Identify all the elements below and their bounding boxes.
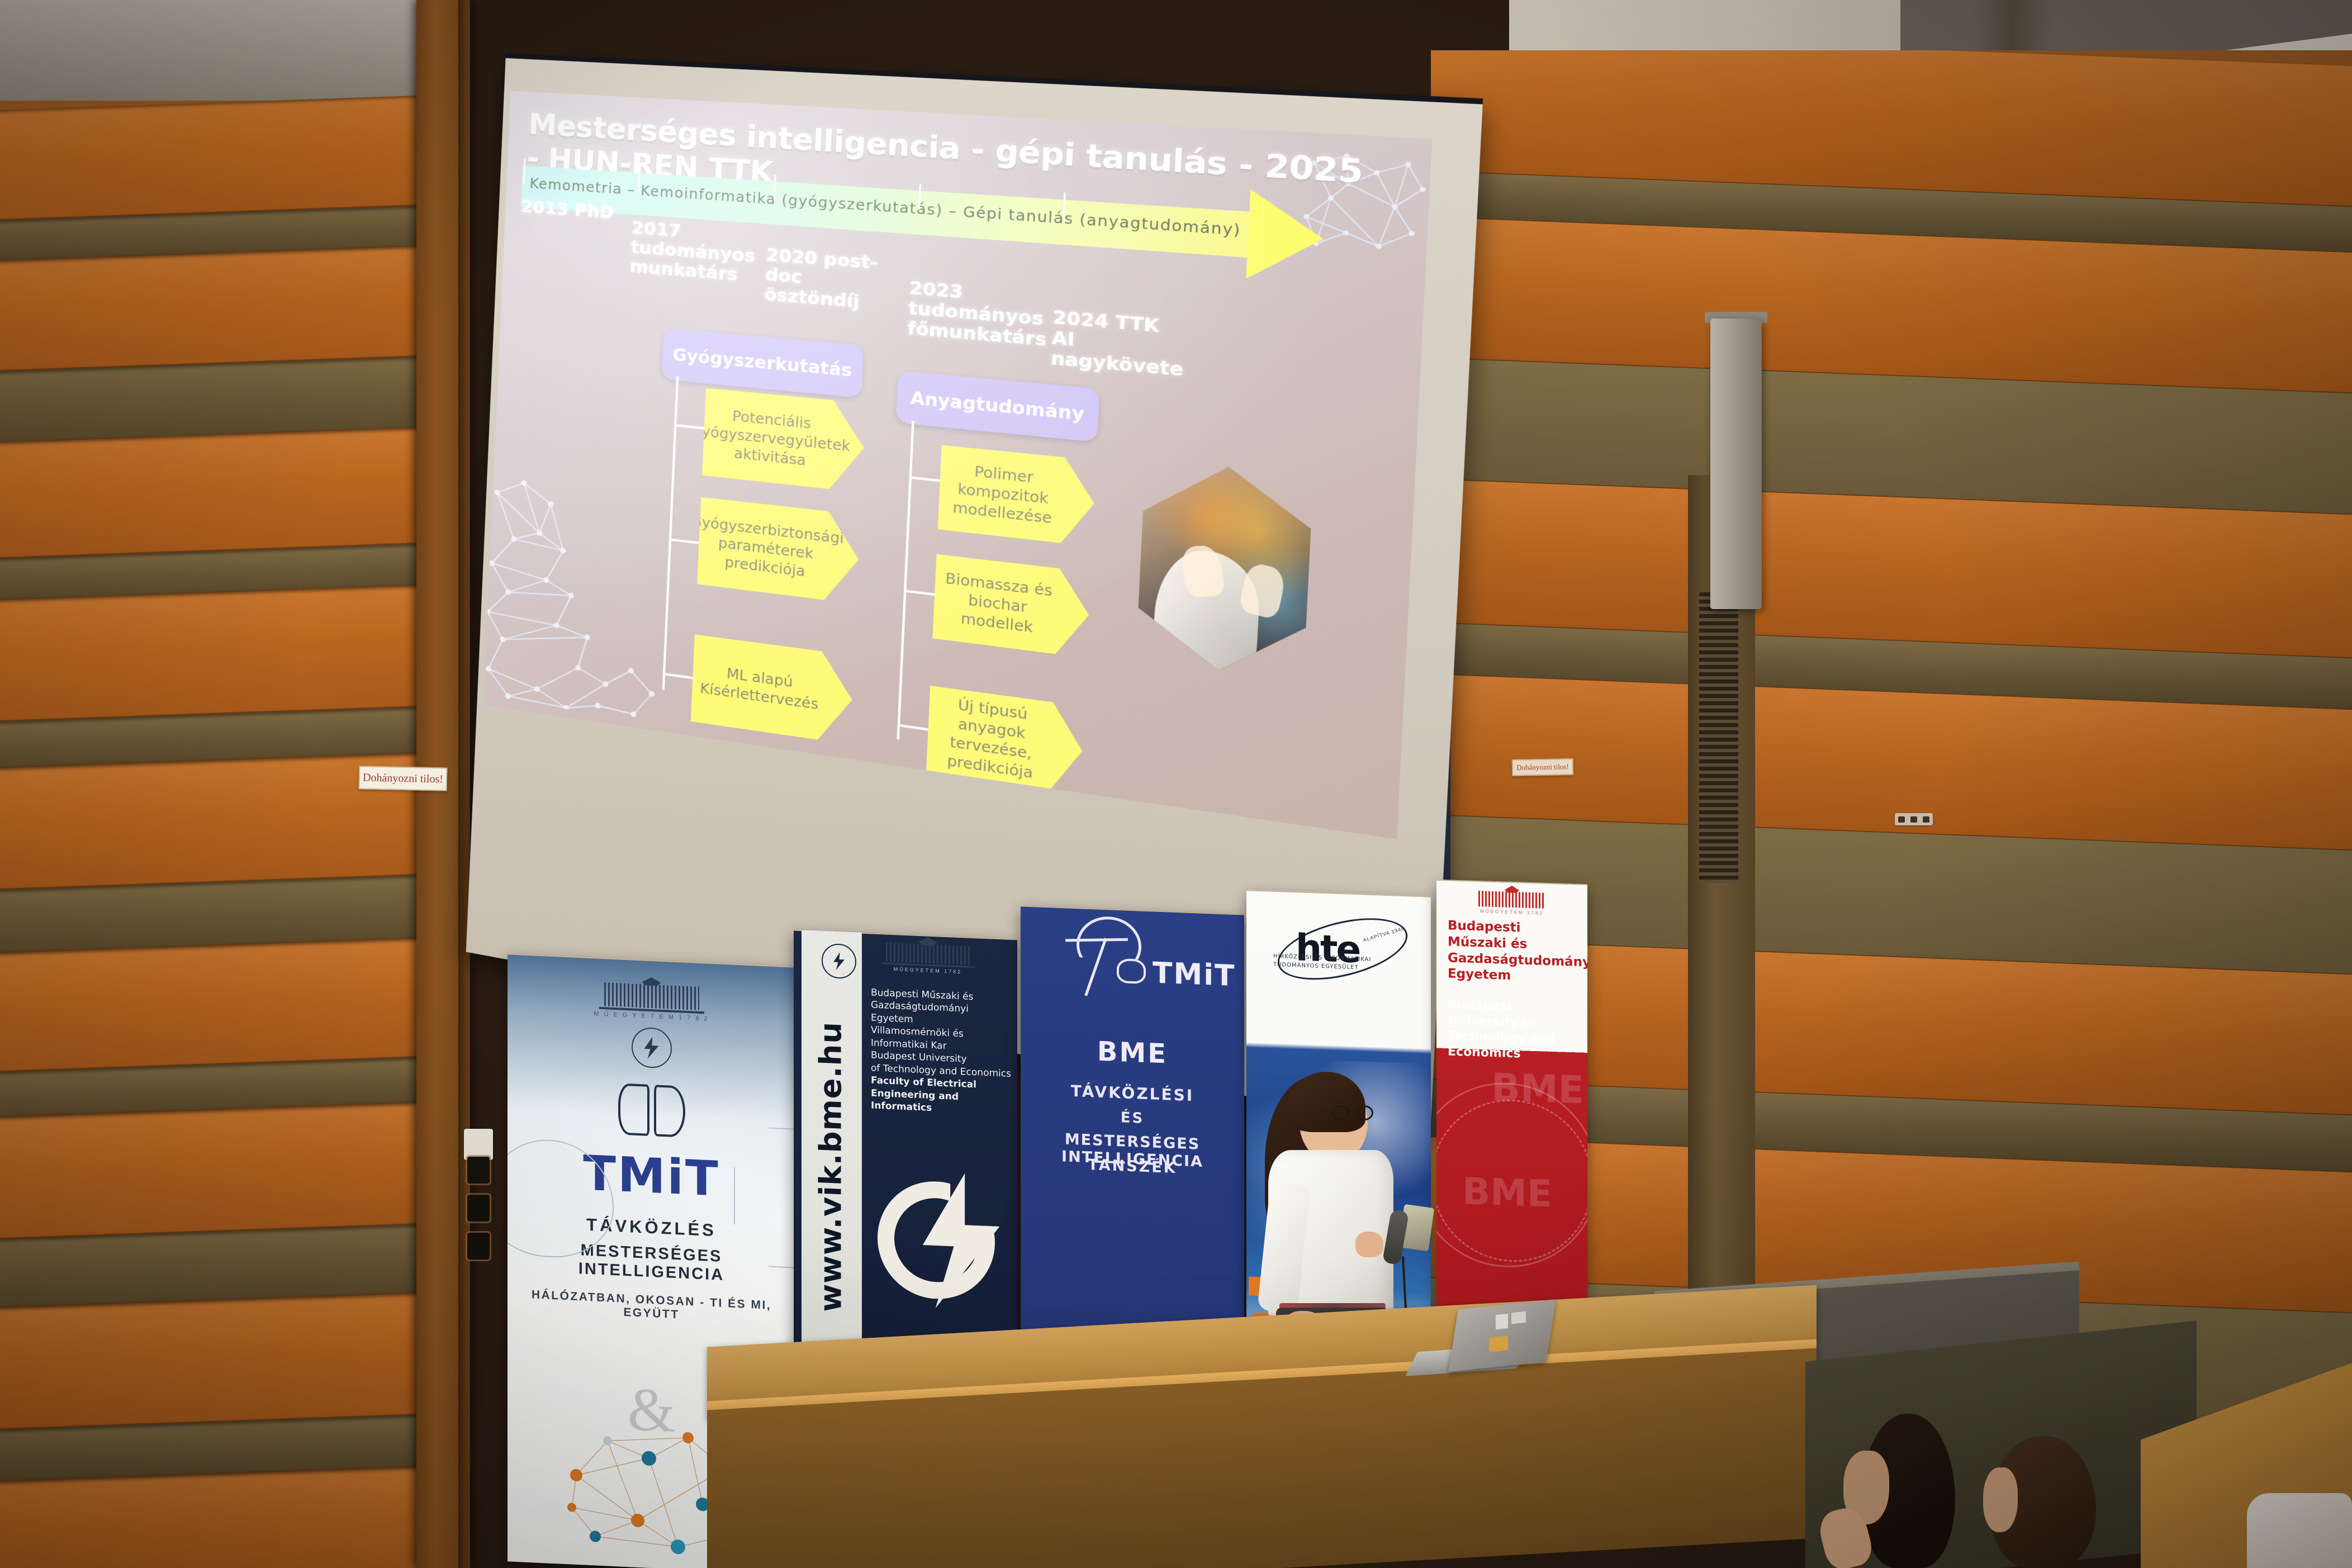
- timeline-item-2017: 2017 tudományos munkatárs: [629, 218, 759, 286]
- lecture-hall-photo: Dohányozni tilos! Dohányozni tilos!: [0, 0, 2352, 1568]
- audience-member-shoulder: [2247, 1493, 2352, 1568]
- banner-tagline: HÁLÓZATBAN, OKOSAN - TI ÉS MI, EGYÜTT: [508, 1287, 795, 1327]
- bme-building-crest-icon: [604, 982, 699, 1010]
- bme-building-crest-icon: [886, 943, 970, 965]
- projected-slide: Mesterséges intelligencia - gépi tanulás…: [483, 91, 1432, 839]
- hte-logo: hte ALAPÍTVA 1949: [1275, 912, 1410, 983]
- vik-seal-icon: [822, 943, 856, 980]
- bme-name-hu: Budapesti Műszaki és Gazdaságtudományi E…: [1448, 918, 1581, 986]
- chevron-item[interactable]: Új típusú anyagok tervezése, predikciója: [926, 686, 1084, 796]
- lightning-bolt-icon: [878, 1179, 995, 1301]
- arrow-head-icon: [1246, 189, 1325, 284]
- chevron-item[interactable]: Polimer kompozitok modellezése: [938, 445, 1097, 547]
- ventilation-grille: [1699, 592, 1738, 883]
- wall-top-band: [0, 0, 425, 101]
- power-outlets[interactable]: [465, 1157, 492, 1308]
- category-header-anyagtudomany[interactable]: Anyagtudomány: [896, 370, 1100, 442]
- tmit-wordmark: TMiT: [1153, 956, 1236, 993]
- timeline-item-2023: 2023 tudományos főmunkatárs: [907, 278, 1048, 350]
- light-switch[interactable]: [464, 1129, 493, 1160]
- power-outlet[interactable]: [467, 1157, 490, 1184]
- bme-wordmark: BME: [1021, 1033, 1244, 1072]
- bme-name-en: Budapest University of Technology and Ec…: [1448, 997, 1581, 1064]
- power-outlet[interactable]: [467, 1233, 490, 1260]
- power-outlets-right[interactable]: [1895, 813, 1933, 825]
- category-header-gyogyszerkutatas[interactable]: Gyógyszerkutatás: [661, 328, 864, 398]
- chevron-item[interactable]: Biomassza és biochar modellek: [932, 554, 1090, 658]
- bme-building-crest-icon: [1478, 891, 1545, 909]
- power-outlet[interactable]: [467, 1195, 490, 1222]
- glasses-icon: [1332, 1105, 1373, 1120]
- laptop-sticker: [1489, 1336, 1508, 1352]
- banner-line-1: TÁVKÖZLÉSI: [1021, 1080, 1244, 1106]
- hand-holding-microphone: [1355, 1232, 1383, 1257]
- banner-bme: MŰEGYETEM 1782 Budapesti Műszaki és Gazd…: [1436, 880, 1587, 1366]
- timeline-item-2024: 2024 TTK AI nagykövete: [1050, 307, 1164, 378]
- vik-seal-icon: [632, 1027, 672, 1068]
- no-smoking-sign: Dohányozni tilos!: [359, 766, 448, 791]
- chevron-item[interactable]: Potenciális gyógyszervegyületek aktivitá…: [702, 388, 866, 493]
- hexagon-photo-lab-scientist: [1136, 459, 1313, 681]
- chevron-item[interactable]: ML alapú Kísérlettervezés: [691, 634, 854, 744]
- chevron-item[interactable]: Gyógyszerbiztonsági paraméterek predikci…: [697, 497, 861, 604]
- bme-watermark: BME: [1462, 1170, 1552, 1215]
- brain-circuit-icon: [618, 1083, 685, 1137]
- audience-member-face: [1983, 1467, 2018, 1532]
- brain-icon: [1117, 958, 1146, 984]
- vik-url-text[interactable]: www.vik.bme.hu: [813, 1066, 848, 1313]
- vik-line-en-4: Engineering and Informatics: [871, 1087, 1012, 1118]
- network-mesh-decoration-2: [484, 475, 678, 724]
- laptop-lid[interactable]: [1448, 1299, 1556, 1372]
- column-loudspeaker: [1710, 319, 1762, 609]
- laptop-sticker: [1511, 1312, 1526, 1324]
- bme-watermark: BME: [1491, 1066, 1584, 1113]
- pillar-edge-shadow: [458, 0, 467, 1568]
- banner-line-2: ÉS: [1021, 1105, 1244, 1130]
- laptop-sticker: [1496, 1314, 1508, 1329]
- crest-caption: MŰEGYETEM 1782: [1436, 907, 1587, 917]
- no-smoking-sign-far: Dohányozni tilos!: [1512, 758, 1574, 776]
- timeline-item-2020: 2020 post-doc ösztöndíj: [764, 245, 886, 314]
